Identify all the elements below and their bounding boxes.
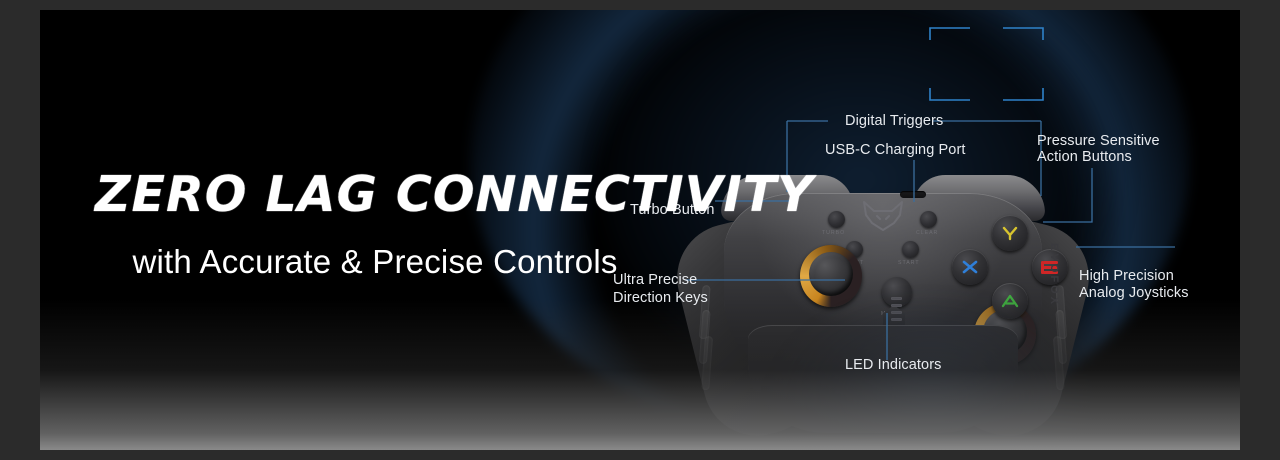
marketing-copy: ZERO LAG CONNECTIVITY with Accurate & Pr… [95, 170, 655, 281]
callout-usb-c-charging-port: USB-C Charging Port [825, 142, 966, 159]
page-subtitle: with Accurate & Precise Controls [95, 243, 655, 281]
callout-ultra-precise-line2: Direction Keys [613, 290, 708, 307]
callout-pressure-sensitive-line2: Action Buttons [1037, 149, 1132, 166]
callout-pressure-sensitive-line1: Pressure Sensitive [1037, 133, 1160, 150]
outer-frame: TURBO CLEAR SELECT START MODE [0, 0, 1280, 460]
page-title: ZERO LAG CONNECTIVITY [95, 170, 655, 219]
callout-high-precision-line2: Analog Joysticks [1079, 285, 1189, 302]
banner-stage: TURBO CLEAR SELECT START MODE [40, 10, 1240, 450]
callout-led-indicators: LED Indicators [845, 357, 942, 374]
callout-high-precision-line1: High Precision [1079, 268, 1174, 285]
callout-digital-triggers: Digital Triggers [845, 113, 943, 130]
